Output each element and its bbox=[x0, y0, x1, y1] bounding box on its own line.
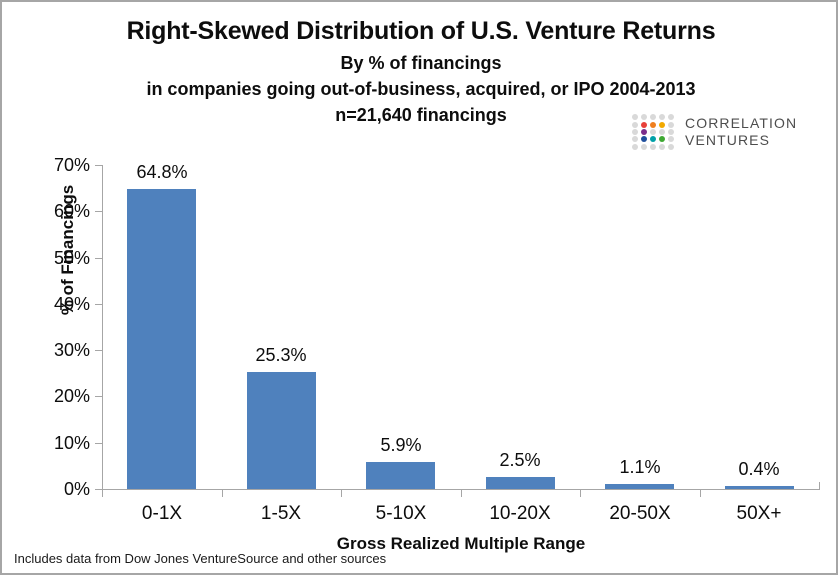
footer-note: Includes data from Dow Jones VentureSour… bbox=[14, 551, 386, 566]
x-axis-tick bbox=[700, 489, 701, 497]
logo-dot-20 bbox=[632, 144, 638, 150]
y-axis-tick-label: 20% bbox=[30, 387, 90, 405]
x-axis-category-label-20-50X: 20-50X bbox=[580, 503, 700, 525]
logo-dot-18 bbox=[659, 136, 665, 142]
bar-value-label-10-20X: 2.5% bbox=[460, 450, 580, 470]
logo-dot-0 bbox=[632, 114, 638, 120]
bar-value-label-5-10X: 5.9% bbox=[341, 435, 461, 455]
logo-dot-2 bbox=[650, 114, 656, 120]
bar-10-20X[interactable] bbox=[486, 477, 555, 489]
chart-subtitle-line-1: By % of financings bbox=[2, 51, 838, 76]
logo-dot-16 bbox=[641, 136, 647, 142]
x-axis-tick bbox=[222, 489, 223, 497]
x-axis-tick bbox=[580, 489, 581, 497]
y-axis-tick-label: 30% bbox=[30, 341, 90, 359]
x-axis-tick bbox=[461, 489, 462, 497]
logo-dot-17 bbox=[650, 136, 656, 142]
logo-dot-11 bbox=[641, 129, 647, 135]
logo-line-2: Ventures bbox=[685, 132, 797, 149]
x-axis-category-label-1-5X: 1-5X bbox=[221, 503, 341, 525]
y-axis-tick-label: 50% bbox=[30, 249, 90, 267]
y-axis-tick bbox=[95, 350, 103, 351]
y-axis-tick bbox=[95, 396, 103, 397]
bar-value-label-0-1X: 64.8% bbox=[102, 162, 222, 182]
logo-dot-19 bbox=[668, 136, 674, 142]
logo-dot-3 bbox=[659, 114, 665, 120]
logo-dot-12 bbox=[650, 129, 656, 135]
logo-dot-grid-icon bbox=[631, 114, 675, 150]
bar-20-50X[interactable] bbox=[605, 484, 674, 489]
x-axis-end-tick bbox=[819, 482, 820, 490]
x-axis-category-label-50X+: 50X+ bbox=[699, 503, 819, 525]
y-axis-tick-label: 70% bbox=[30, 156, 90, 174]
x-axis-category-label-10-20X: 10-20X bbox=[460, 503, 580, 525]
x-axis-category-label-5-10X: 5-10X bbox=[341, 503, 461, 525]
logo-dot-24 bbox=[668, 144, 674, 150]
bar-5-10X[interactable] bbox=[366, 462, 435, 489]
page-title: Right-Skewed Distribution of U.S. Ventur… bbox=[2, 16, 838, 46]
logo-dot-23 bbox=[659, 144, 665, 150]
logo-dot-13 bbox=[659, 129, 665, 135]
logo-dot-22 bbox=[650, 144, 656, 150]
logo-dot-7 bbox=[650, 122, 656, 128]
chart-container: Right-Skewed Distribution of U.S. Ventur… bbox=[0, 0, 838, 575]
x-axis-category-label-0-1X: 0-1X bbox=[102, 503, 222, 525]
logo-line-1: Correlation bbox=[685, 115, 797, 132]
y-axis-tick-label: 0% bbox=[30, 480, 90, 498]
bar-value-label-50X+: 0.4% bbox=[699, 459, 819, 479]
x-axis-tick bbox=[341, 489, 342, 497]
y-axis-tick bbox=[95, 443, 103, 444]
logo-dot-14 bbox=[668, 129, 674, 135]
y-axis-tick-label: 40% bbox=[30, 295, 90, 313]
logo-dot-10 bbox=[632, 129, 638, 135]
logo-dot-4 bbox=[668, 114, 674, 120]
logo-wordmark: Correlation Ventures bbox=[685, 115, 797, 149]
y-axis-tick-label: 60% bbox=[30, 202, 90, 220]
logo-dot-8 bbox=[659, 122, 665, 128]
y-axis-tick bbox=[95, 211, 103, 212]
bar-1-5X[interactable] bbox=[247, 372, 316, 489]
bar-0-1X[interactable] bbox=[127, 189, 196, 489]
chart-subtitle-line-2: in companies going out-of-business, acqu… bbox=[2, 77, 838, 102]
logo-dot-5 bbox=[632, 122, 638, 128]
correlation-ventures-logo: Correlation Ventures bbox=[631, 113, 816, 151]
logo-dot-6 bbox=[641, 122, 647, 128]
title-block: Right-Skewed Distribution of U.S. Ventur… bbox=[2, 16, 838, 128]
logo-dot-1 bbox=[641, 114, 647, 120]
y-axis-tick bbox=[95, 304, 103, 305]
y-axis-tick bbox=[95, 258, 103, 259]
logo-dot-9 bbox=[668, 122, 674, 128]
x-axis-tick bbox=[102, 489, 103, 497]
logo-dot-15 bbox=[632, 136, 638, 142]
bar-50X+[interactable] bbox=[725, 486, 794, 489]
logo-dot-21 bbox=[641, 144, 647, 150]
bar-value-label-20-50X: 1.1% bbox=[580, 457, 700, 477]
y-axis-tick-label: 10% bbox=[30, 434, 90, 452]
bar-value-label-1-5X: 25.3% bbox=[221, 345, 341, 365]
